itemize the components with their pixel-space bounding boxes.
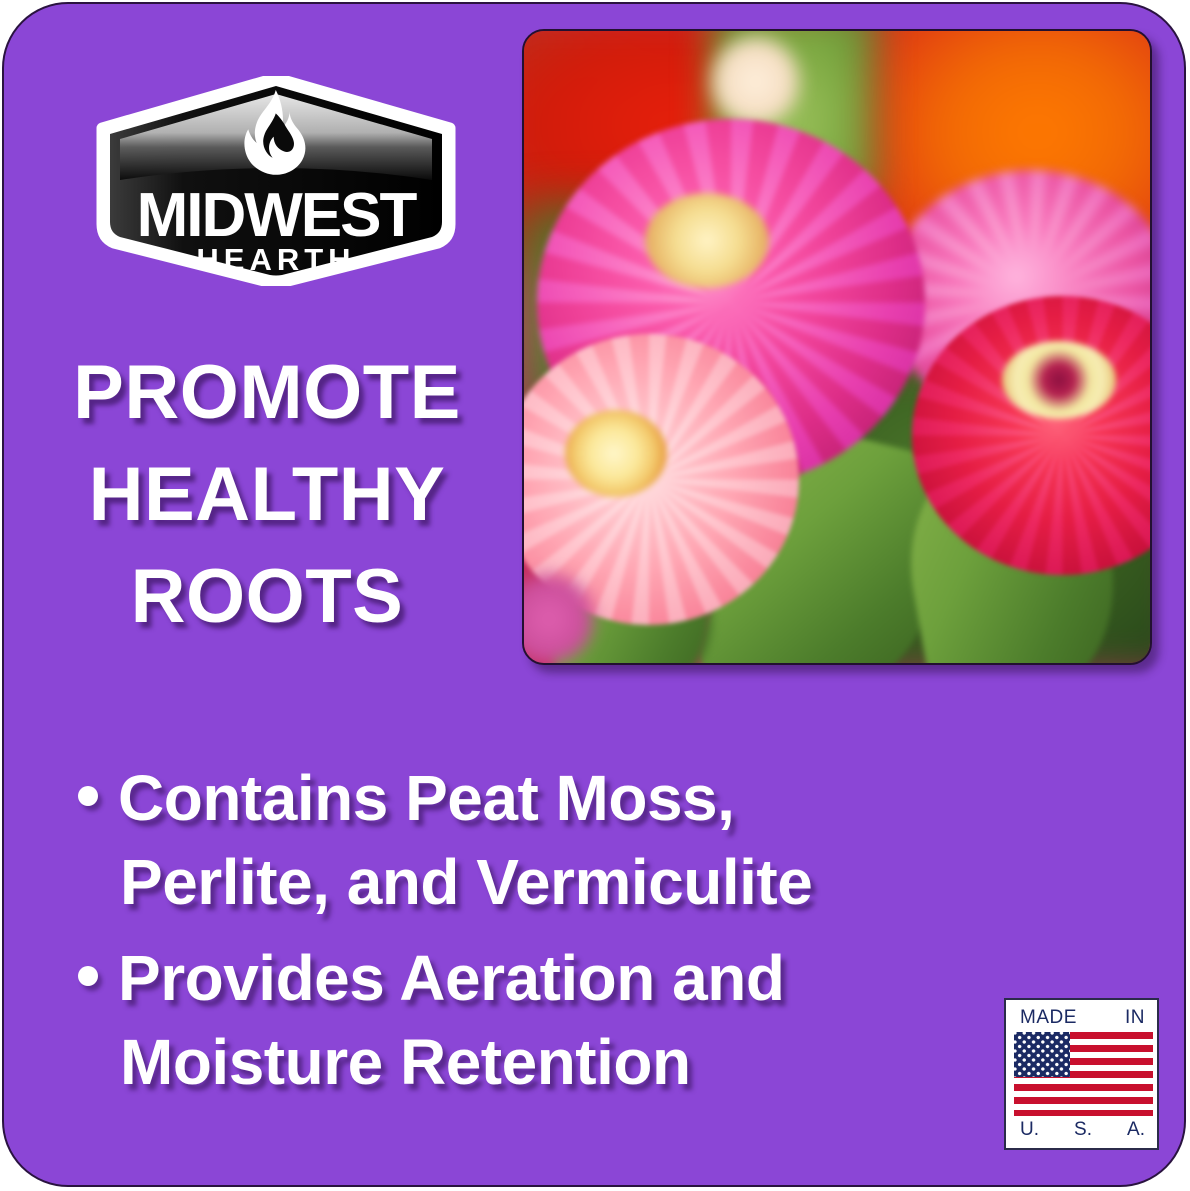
usa-a-label: A.	[1127, 1119, 1145, 1141]
bullet-1-line-1: Contains Peat Moss,	[66, 756, 1026, 840]
usa-label: U. S. A.	[1014, 1119, 1149, 1141]
headline-line-1: PROMOTE	[22, 342, 512, 444]
logo-brand-secondary: HEARTH	[196, 242, 355, 277]
bullet-dot-icon	[78, 786, 98, 806]
bullet-1-line-2: Perlite, and Vermiculite	[66, 840, 1026, 924]
usa-s-label: S.	[1074, 1119, 1092, 1141]
brand-logo: MIDWEST HEARTH	[92, 76, 460, 286]
product-feature-card: MIDWEST HEARTH PROMOTE HEALTHY ROOTS	[2, 2, 1186, 1187]
headline-line-2: HEALTHY	[22, 444, 512, 546]
bullet-1-text-1: Contains Peat Moss,	[118, 762, 734, 834]
list-item: Contains Peat Moss, Perlite, and Vermicu…	[66, 756, 1026, 924]
bullet-dot-icon	[78, 966, 98, 986]
list-item: Provides Aeration and Moisture Retention	[66, 936, 1026, 1104]
feature-bullet-list: Contains Peat Moss, Perlite, and Vermicu…	[66, 756, 1026, 1116]
headline-line-3: ROOTS	[22, 546, 512, 648]
photo-flower-pale-pink-center	[565, 410, 667, 497]
usa-u-label: U.	[1020, 1119, 1039, 1141]
photo-flower-pink-main-center	[645, 193, 769, 288]
made-in-usa-badge: MADE IN U. S. A.	[1004, 998, 1159, 1150]
headline: PROMOTE HEALTHY ROOTS	[22, 342, 512, 648]
zinnia-flowers-photo	[522, 29, 1152, 665]
flag-stars-row-b	[1014, 1032, 1070, 1077]
bullet-2-line-1: Provides Aeration and	[66, 936, 1026, 1020]
bullet-2-line-2: Moisture Retention	[66, 1020, 1026, 1104]
logo-brand-primary: MIDWEST	[137, 181, 418, 250]
us-flag-icon	[1014, 1032, 1153, 1116]
made-in-label: MADE IN	[1014, 1007, 1149, 1029]
photo-flower-bud	[712, 37, 800, 125]
photo-flower-crimson-center	[1002, 341, 1116, 419]
in-label: IN	[1125, 1007, 1145, 1029]
midwest-hearth-logo-svg: MIDWEST HEARTH	[92, 76, 460, 286]
made-label: MADE	[1020, 1007, 1077, 1029]
flag-canton	[1014, 1032, 1070, 1077]
photo-canvas	[524, 31, 1150, 663]
bullet-2-text-1: Provides Aeration and	[118, 942, 784, 1014]
